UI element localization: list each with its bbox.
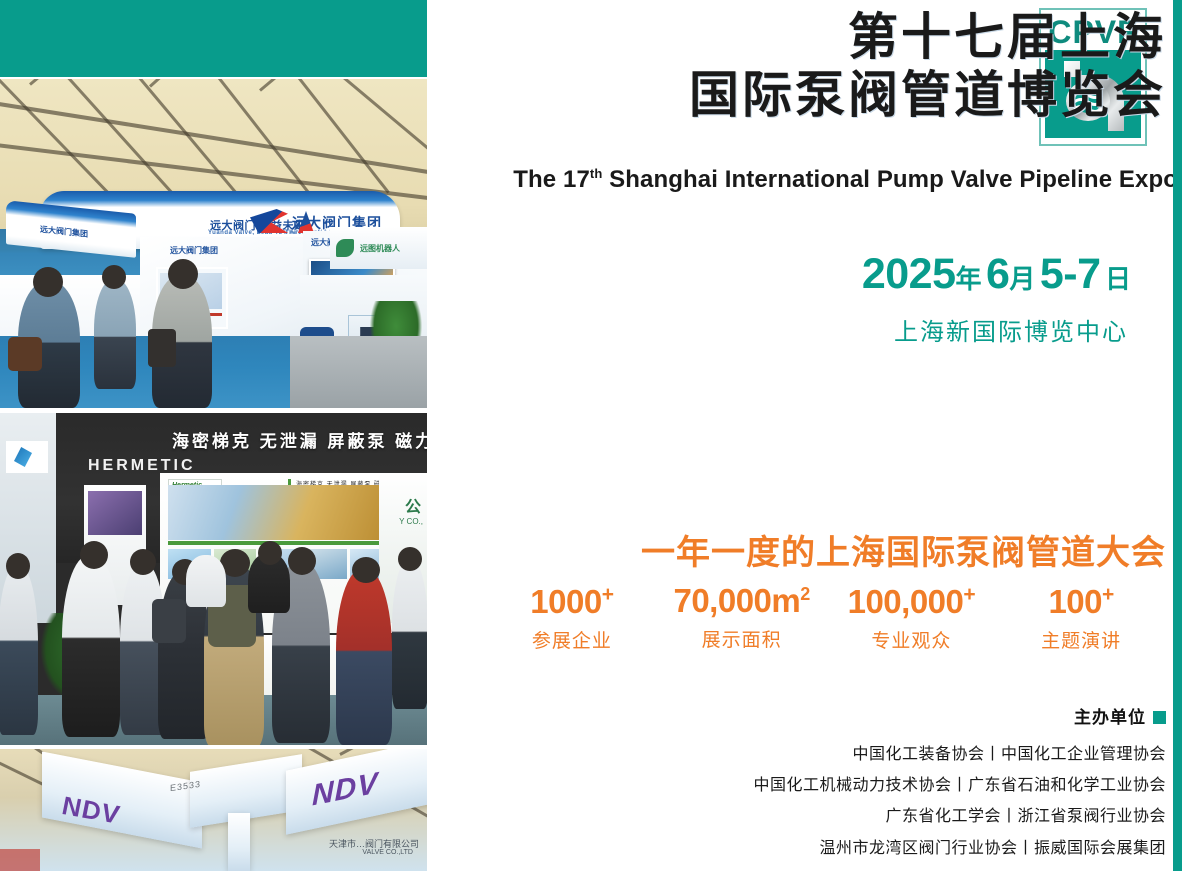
person-head [33,267,63,297]
visitor-person [62,555,120,737]
stats-row: 1000+ 参展企业 70,000m2 展示面积 100,000+ 专业观众 1… [487,583,1166,653]
stat-value: 1000+ [487,583,657,620]
person-head [258,541,282,565]
booth-banner-cn: 海密梯克 无泄漏 屏蔽泵 磁力泵 [172,427,427,452]
staff-person [186,555,226,607]
organizers-heading-text: 主办单位 [1074,708,1146,727]
event-day-unit: 日 [1105,264,1131,294]
title-cn-line2: 国际泵阀管道博览会 [636,66,1166,124]
aisle-floor [290,336,427,408]
promo-headline: 一年一度的上海国际泵阀管道大会 [641,525,1166,574]
organizer-line: 温州市龙湾区阀门行业协会丨振威国际会展集团 [753,833,1166,864]
organizer-line: 中国化工机械动力技术协会丨广东省石油和化学工业协会 [753,770,1166,801]
event-date: 2025年 6月 5-7 日 [862,250,1131,299]
person-head [102,265,126,289]
title-en: The 17th Shanghai International Pump Val… [488,166,1178,194]
visitor-person [94,279,136,389]
photo-booth-hermetic: HERMETIC 海密梯克 无泄漏 屏蔽泵 磁力泵 海密梯克 无泄漏 屏蔽泵 磁… [0,413,427,745]
stat-number: 100 [1048,583,1102,620]
stat-number: 70,000m [673,582,800,619]
booth-column [228,813,250,871]
stat-number: 100,000 [848,583,964,620]
green-divider [168,541,393,545]
title-cn-line1: 第十七届上海 [636,8,1166,66]
poster-content: CPVF [427,0,1188,871]
event-month-unit: 月 [1009,264,1035,294]
stat-superscript: 2 [800,584,810,604]
right-edge-teal-stripe [1173,0,1182,871]
stat-item: 100,000+ 专业观众 [827,583,997,653]
person-head [352,557,380,583]
title-en-prefix: The 17 [513,166,590,193]
stat-item: 70,000m2 展示面积 [657,583,827,652]
visitor-person [0,565,38,735]
booth-fascia-side-label: 远大阀门集团 [40,224,88,240]
event-days: 5-7 [1040,250,1101,298]
person-head [288,547,316,575]
stat-suffix: + [602,583,614,606]
stat-value: 100+ [996,583,1166,620]
person-head [130,549,156,575]
company-name-en: VALVE CO.,LTD [362,849,413,856]
side-poster-image [88,491,142,535]
organizers-block: 主办单位 中国化工装备协会丨中国化工企业管理协会 中国化工机械动力技术协会丨广东… [753,703,1166,864]
photo-booth-yuanda-valve: 远大阀门 精益未来 Yuanda Valve, Lead To The Futu… [0,79,427,408]
person-head [80,541,108,569]
stat-value: 70,000m2 [657,583,827,619]
event-year-unit: 年 [956,264,982,294]
stat-suffix: + [1102,583,1114,606]
stat-value: 100,000+ [827,583,997,620]
stat-label: 展示面积 [657,625,827,652]
product-hero-banner [168,485,393,540]
event-venue: 上海新国际博览中心 [894,312,1128,347]
backpack [152,599,186,643]
visitor-person [392,559,427,709]
neighbor-booth-label: 远图机器人 [360,243,400,254]
neighbor-logo-icon [336,239,354,257]
organizer-line: 中国化工装备协会丨中国化工企业管理协会 [753,739,1166,770]
organizers-heading: 主办单位 [753,703,1166,728]
stat-number: 1000 [530,583,601,620]
page-title: 第十七届上海 国际泵阀管道博览会 [636,8,1166,124]
shoulder-bag [8,337,42,371]
event-month: 6 [986,250,1009,298]
organizer-line: 广东省化工学会丨浙江省泵阀行业协会 [753,801,1166,832]
person-head [6,553,30,579]
shoulder-bag [148,329,176,367]
photo-booth-ndv: NDV NDV E3533 天津市…阀门有限公司 VALVE CO.,LTD [0,749,427,871]
title-en-ordinal: th [590,166,602,181]
stat-item: 1000+ 参展企业 [487,583,657,653]
neighbor-booth-char: 公 [405,493,421,517]
stat-label: 专业观众 [827,626,997,653]
photo-column: 远大阀门 精益未来 Yuanda Valve, Lead To The Futu… [0,0,427,871]
stat-label: 参展企业 [487,626,657,653]
title-en-rest: Shanghai International Pump Valve Pipeli… [602,166,1178,193]
teal-accent-band [0,0,427,77]
foreground-object [0,849,40,871]
person-head [398,547,422,571]
neighbor-booth-en: Y CO., [399,517,423,526]
teal-square-icon [1153,711,1166,724]
wall-logo-label: 远大阀门集团 [170,245,218,256]
person-head [168,259,198,289]
stat-suffix: + [963,583,975,606]
event-year: 2025 [862,250,956,298]
neighbor-booth-green: 远图机器人 [330,227,427,269]
visitor-person [336,569,392,745]
stat-label: 主题演讲 [996,626,1166,653]
stat-item: 100+ 主题演讲 [996,583,1166,653]
